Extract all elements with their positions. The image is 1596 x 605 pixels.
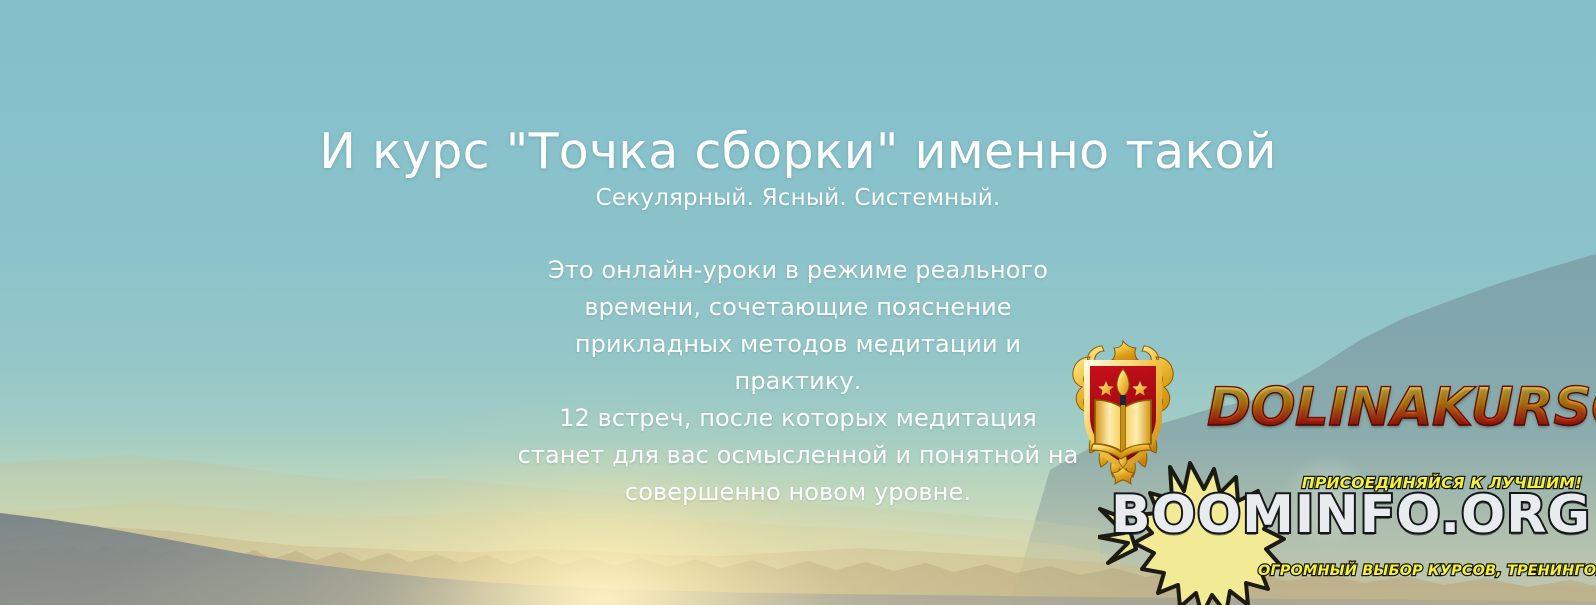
body-line: прикладных методов медитации и: [488, 326, 1108, 363]
body-line: совершенно новом уровне.: [488, 474, 1108, 511]
book-icon: [1091, 400, 1151, 459]
subtitle: Секулярный. Ясный. Системный.: [0, 185, 1596, 211]
body-line: практику.: [488, 363, 1108, 400]
body-line: станет для вас осмысленной и понятной на: [488, 437, 1108, 474]
page-title: И курс "Точка сборки" именно такой: [0, 125, 1596, 179]
body-line: Это онлайн-уроки в режиме реального: [488, 252, 1108, 289]
body-line: времени, сочетающие пояснение: [488, 289, 1108, 326]
boominfo-bottom-tagline: ОГРОМНЫЙ ВЫБОР КУРСОВ, ТРЕНИНГОВ, КНИГ: [1258, 563, 1596, 579]
hero-banner: И курс "Точка сборки" именно такой Секул…: [0, 0, 1596, 605]
body-paragraph: Это онлайн-уроки в режиме реального врем…: [488, 252, 1108, 511]
boominfo-wordmark: BOOMINFO.ORG: [1106, 489, 1596, 541]
body-line: 12 встреч, после которых медитация: [488, 400, 1108, 437]
dolinakursov-wordmark: DOLINAKURSOV: [1207, 377, 1596, 438]
boominfo-watermark: ПРИСОЕДИНЯЙСЯ К ЛУЧШИМ! BOOMINFO.ORG ОГР…: [1098, 455, 1596, 605]
